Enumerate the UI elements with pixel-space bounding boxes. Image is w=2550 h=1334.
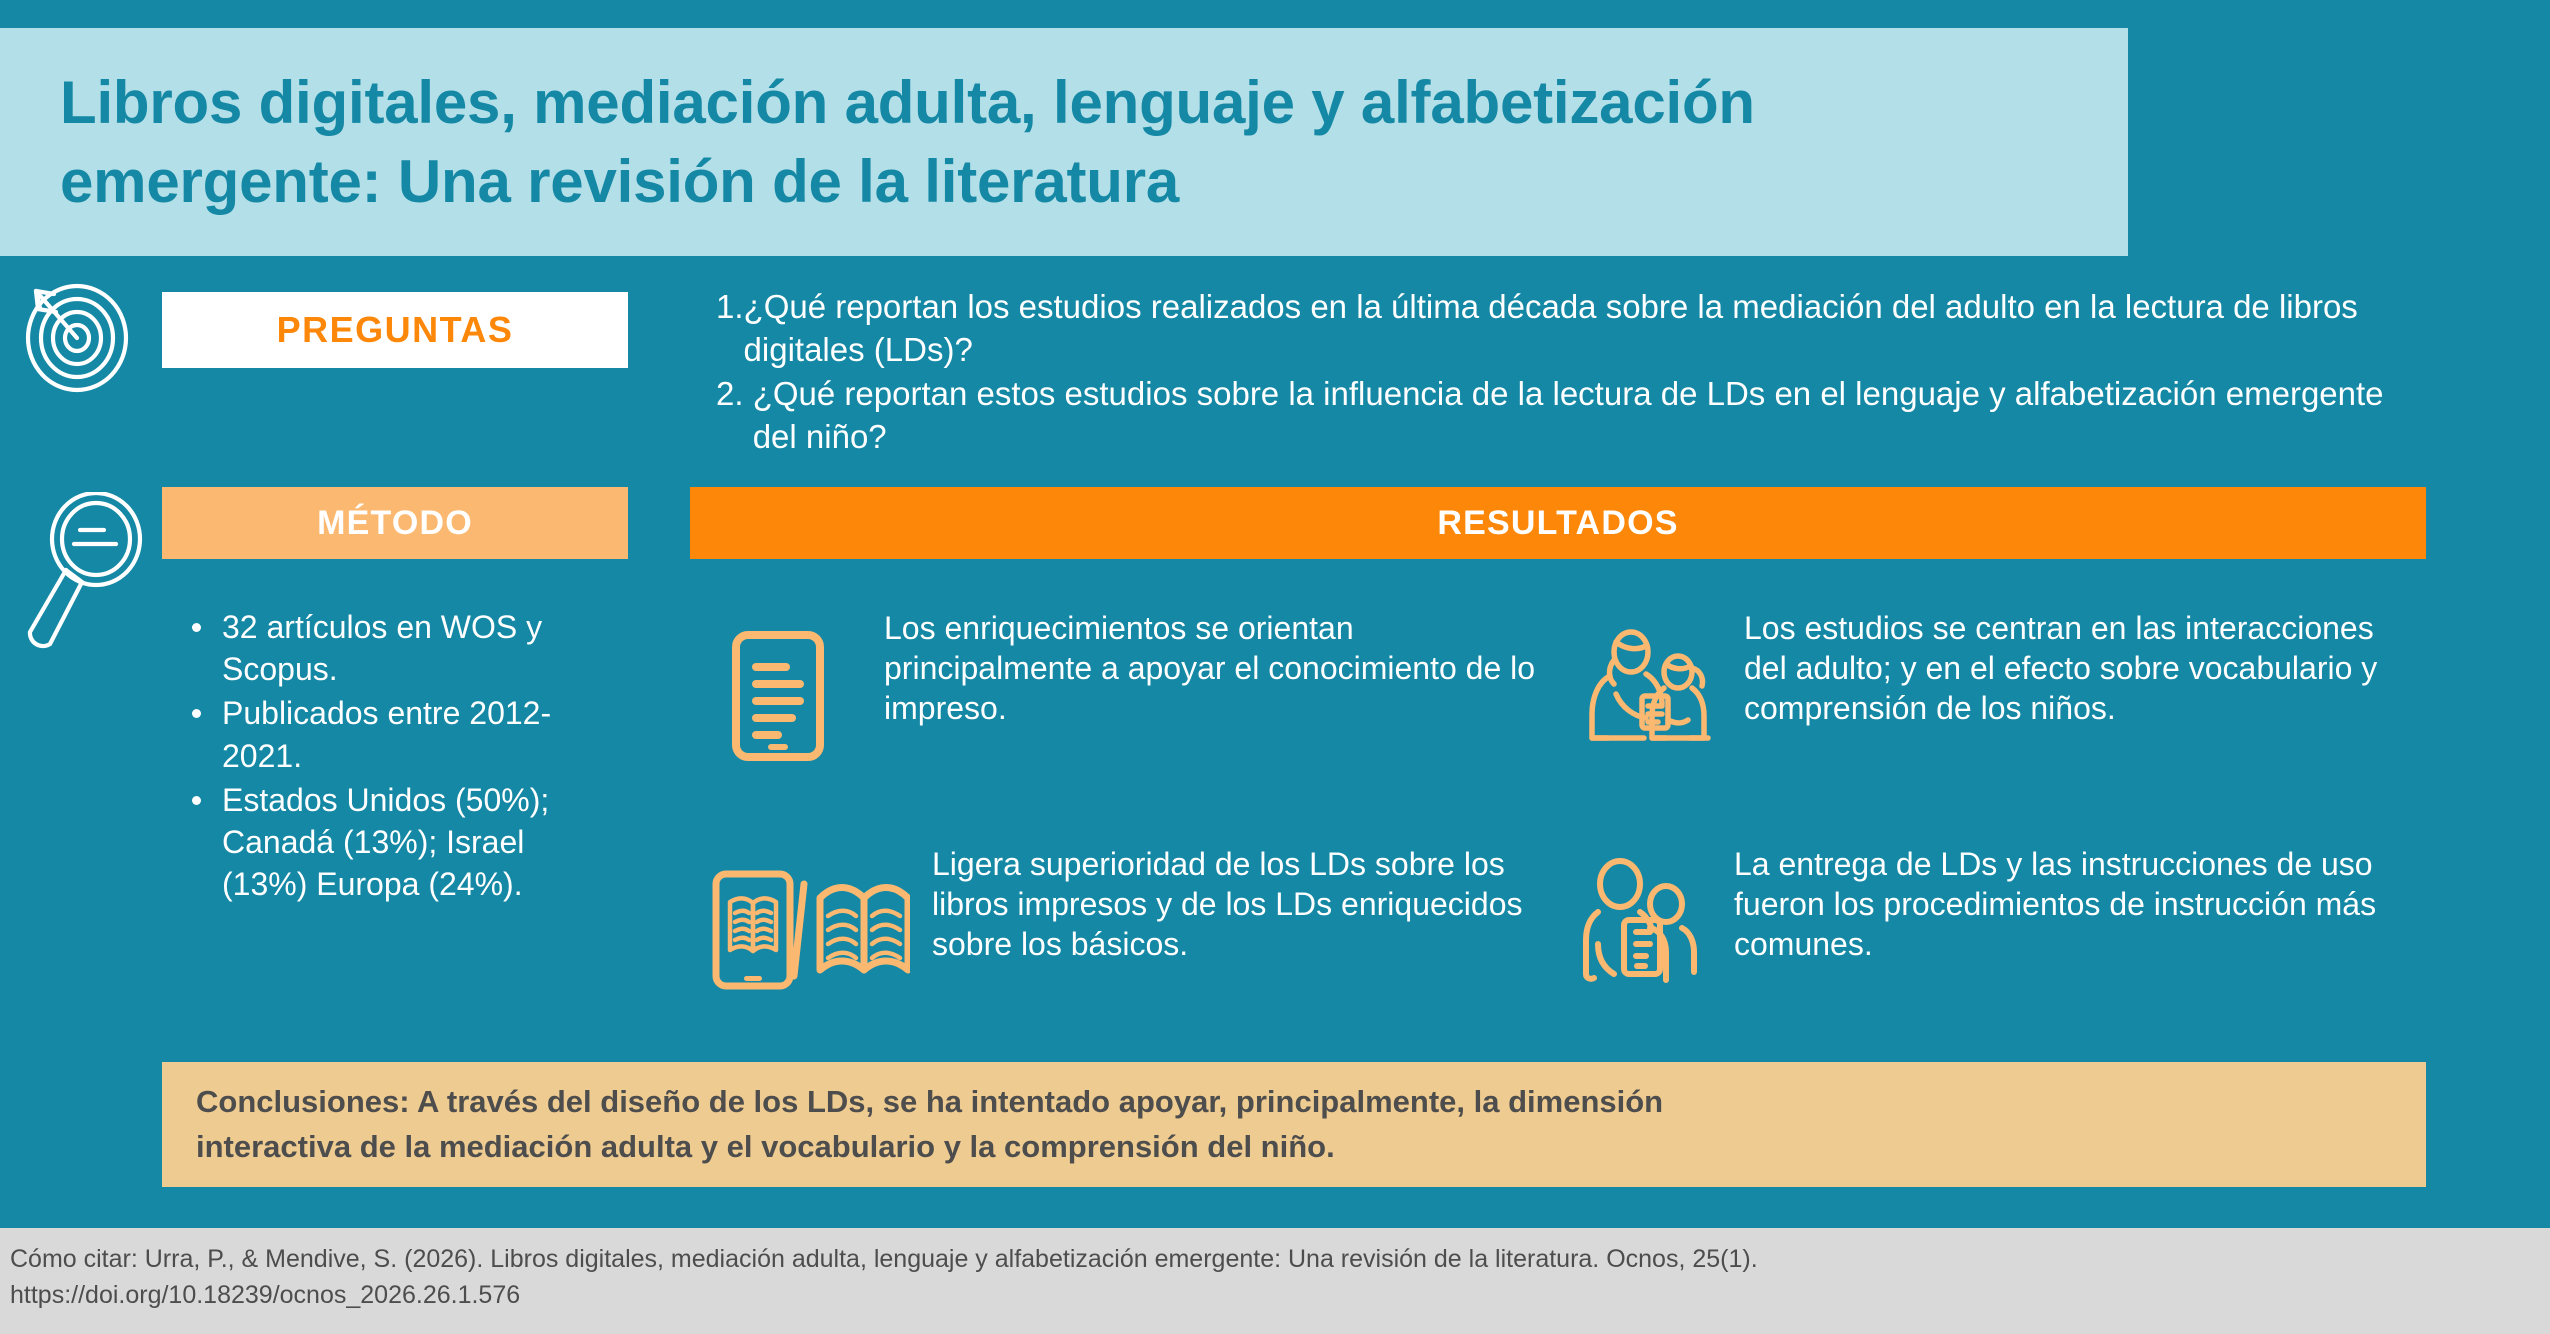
result-text: Los estudios se centran en las interacci… (1744, 608, 2420, 728)
conclusiones-text: Conclusiones: A través del diseño de los… (162, 1080, 1697, 1168)
result-text: Ligera superioridad de los LDs sobre los… (932, 844, 1550, 964)
question-text: ¿Qué reportan estos estudios sobre la in… (753, 373, 2436, 458)
conclusiones-line-2: interactiva de la mediación adulta y el … (196, 1125, 1663, 1169)
question-item: 1. ¿Qué reportan los estudios realizados… (716, 286, 2436, 371)
result-text: Los enriquecimientos se orientan princip… (884, 608, 1550, 728)
metodo-label: MÉTODO (317, 504, 473, 543)
question-item: 2. ¿Qué reportan estos estudios sobre la… (716, 373, 2436, 458)
citation-text: Cómo citar: Urra, P., & Mendive, S. (202… (0, 1228, 1758, 1313)
question-text: ¿Qué reportan los estudios realizados en… (744, 286, 2436, 371)
metodo-bullet-list: 32 artículos en WOS y Scopus. Publicados… (180, 606, 600, 908)
preguntas-label: PREGUNTAS (277, 309, 514, 351)
target-icon (14, 276, 134, 394)
resultados-header-box: RESULTADOS (690, 487, 2426, 559)
tablet-document-icon (730, 630, 842, 767)
question-number: 2. (716, 373, 753, 458)
result-item: Los estudios se centran en las interacci… (1580, 608, 2420, 753)
page-title-line-1: Libros digitales, mediación adulta, leng… (60, 63, 1755, 142)
poster-root: Libros digitales, mediación adulta, leng… (0, 0, 2550, 1334)
metodo-header-box: MÉTODO (162, 487, 628, 559)
citation-footer: Cómo citar: Urra, P., & Mendive, S. (202… (0, 1228, 2550, 1334)
magnifier-icon (20, 492, 146, 652)
list-item: Estados Unidos (50%); Canadá (13%); Isra… (180, 779, 600, 906)
conclusiones-box: Conclusiones: A través del diseño de los… (162, 1062, 2426, 1187)
conclusiones-line-1: Conclusiones: A través del diseño de los… (196, 1080, 1663, 1124)
ebook-vs-book-icon (710, 868, 900, 997)
preguntas-list: 1. ¿Qué reportan los estudios realizados… (716, 286, 2436, 460)
result-item: La entrega de LDs y las instrucciones de… (1580, 844, 2420, 989)
result-item: Los enriquecimientos se orientan princip… (730, 608, 1550, 767)
title-band: Libros digitales, mediación adulta, leng… (0, 28, 2128, 256)
resultados-grid: Los enriquecimientos se orientan princip… (690, 600, 2450, 1040)
adult-child-reading-icon (1580, 620, 1720, 753)
page-title: Libros digitales, mediación adulta, leng… (0, 63, 1755, 221)
list-item: 32 artículos en WOS y Scopus. (180, 606, 600, 690)
two-people-tablet-icon (1580, 856, 1710, 989)
resultados-label: RESULTADOS (1437, 504, 1678, 543)
question-number: 1. (716, 286, 744, 371)
result-item: Ligera superioridad de los LDs sobre los… (710, 844, 1550, 997)
citation-line-1: Cómo citar: Urra, P., & Mendive, S. (202… (10, 1242, 1758, 1278)
page-title-line-2: emergente: Una revisión de la literatura (60, 142, 1755, 221)
list-item: Publicados entre 2012-2021. (180, 692, 600, 776)
preguntas-header-box: PREGUNTAS (162, 292, 628, 368)
citation-doi[interactable]: https://doi.org/10.18239/ocnos_2026.26.1… (10, 1278, 1758, 1314)
result-text: La entrega de LDs y las instrucciones de… (1734, 844, 2420, 964)
